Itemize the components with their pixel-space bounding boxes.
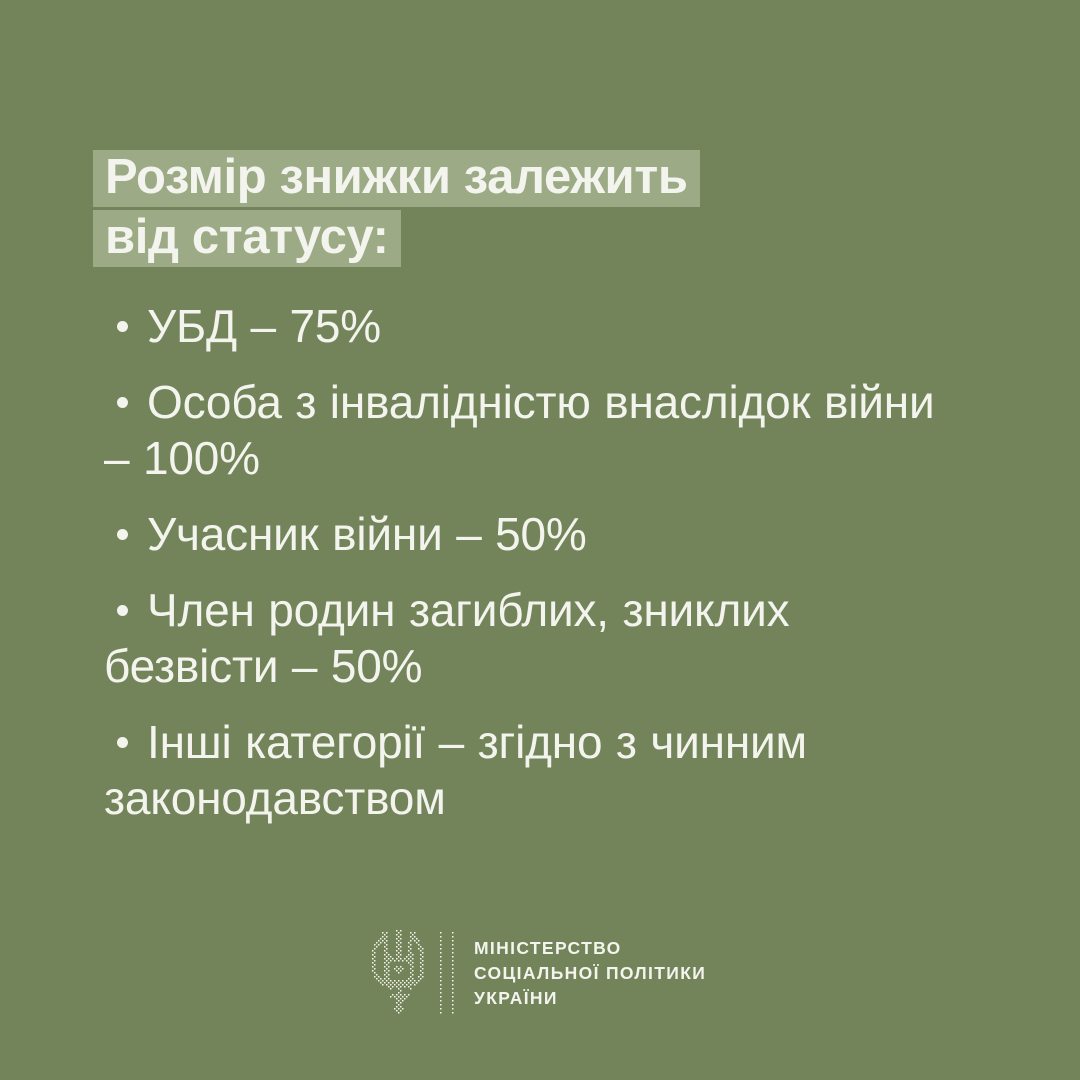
bullet-icon bbox=[117, 605, 128, 616]
info-card: Розмір знижки залежить від статусу: УБД … bbox=[0, 0, 1080, 1080]
bullet-icon bbox=[117, 529, 128, 540]
discount-category-list: УБД – 75% Особа з інвалідністю внаслідок… bbox=[104, 298, 964, 846]
title-line-2: від статусу: bbox=[93, 210, 401, 267]
list-item-label: Особа з інвалідністю внаслідок війни – 1… bbox=[104, 376, 934, 484]
ministry-logo-text: Міністерство Соціальної політики України bbox=[474, 936, 706, 1011]
ukraine-trident-icon bbox=[372, 930, 434, 1016]
title-line-1: Розмір знижки залежить bbox=[93, 150, 700, 207]
logo-text-line-1: Міністерство bbox=[474, 936, 706, 961]
logo-text-line-3: України bbox=[474, 986, 706, 1011]
list-item: Особа з інвалідністю внаслідок війни – 1… bbox=[104, 374, 964, 486]
list-item-label: Член родин загиблих, зниклих безвісти – … bbox=[104, 584, 789, 692]
dotted-divider-icon bbox=[440, 930, 462, 1016]
list-item: УБД – 75% bbox=[104, 298, 964, 354]
list-item-label: Учасник війни – 50% bbox=[147, 508, 587, 560]
list-item-label: Інші категорії – згідно з чинним законод… bbox=[104, 716, 807, 824]
bullet-icon bbox=[117, 397, 128, 408]
list-item-label: УБД – 75% bbox=[147, 300, 381, 352]
logo-text-line-2: Соціальної політики bbox=[474, 961, 706, 986]
list-item: Член родин загиблих, зниклих безвісти – … bbox=[104, 582, 964, 694]
list-item: Учасник війни – 50% bbox=[104, 506, 964, 562]
bullet-icon bbox=[117, 321, 128, 332]
page-title: Розмір знижки залежить від статусу: bbox=[93, 150, 953, 270]
ministry-logo: Міністерство Соціальної політики України bbox=[372, 930, 706, 1016]
bullet-icon bbox=[117, 737, 128, 748]
list-item: Інші категорії – згідно з чинним законод… bbox=[104, 714, 964, 826]
